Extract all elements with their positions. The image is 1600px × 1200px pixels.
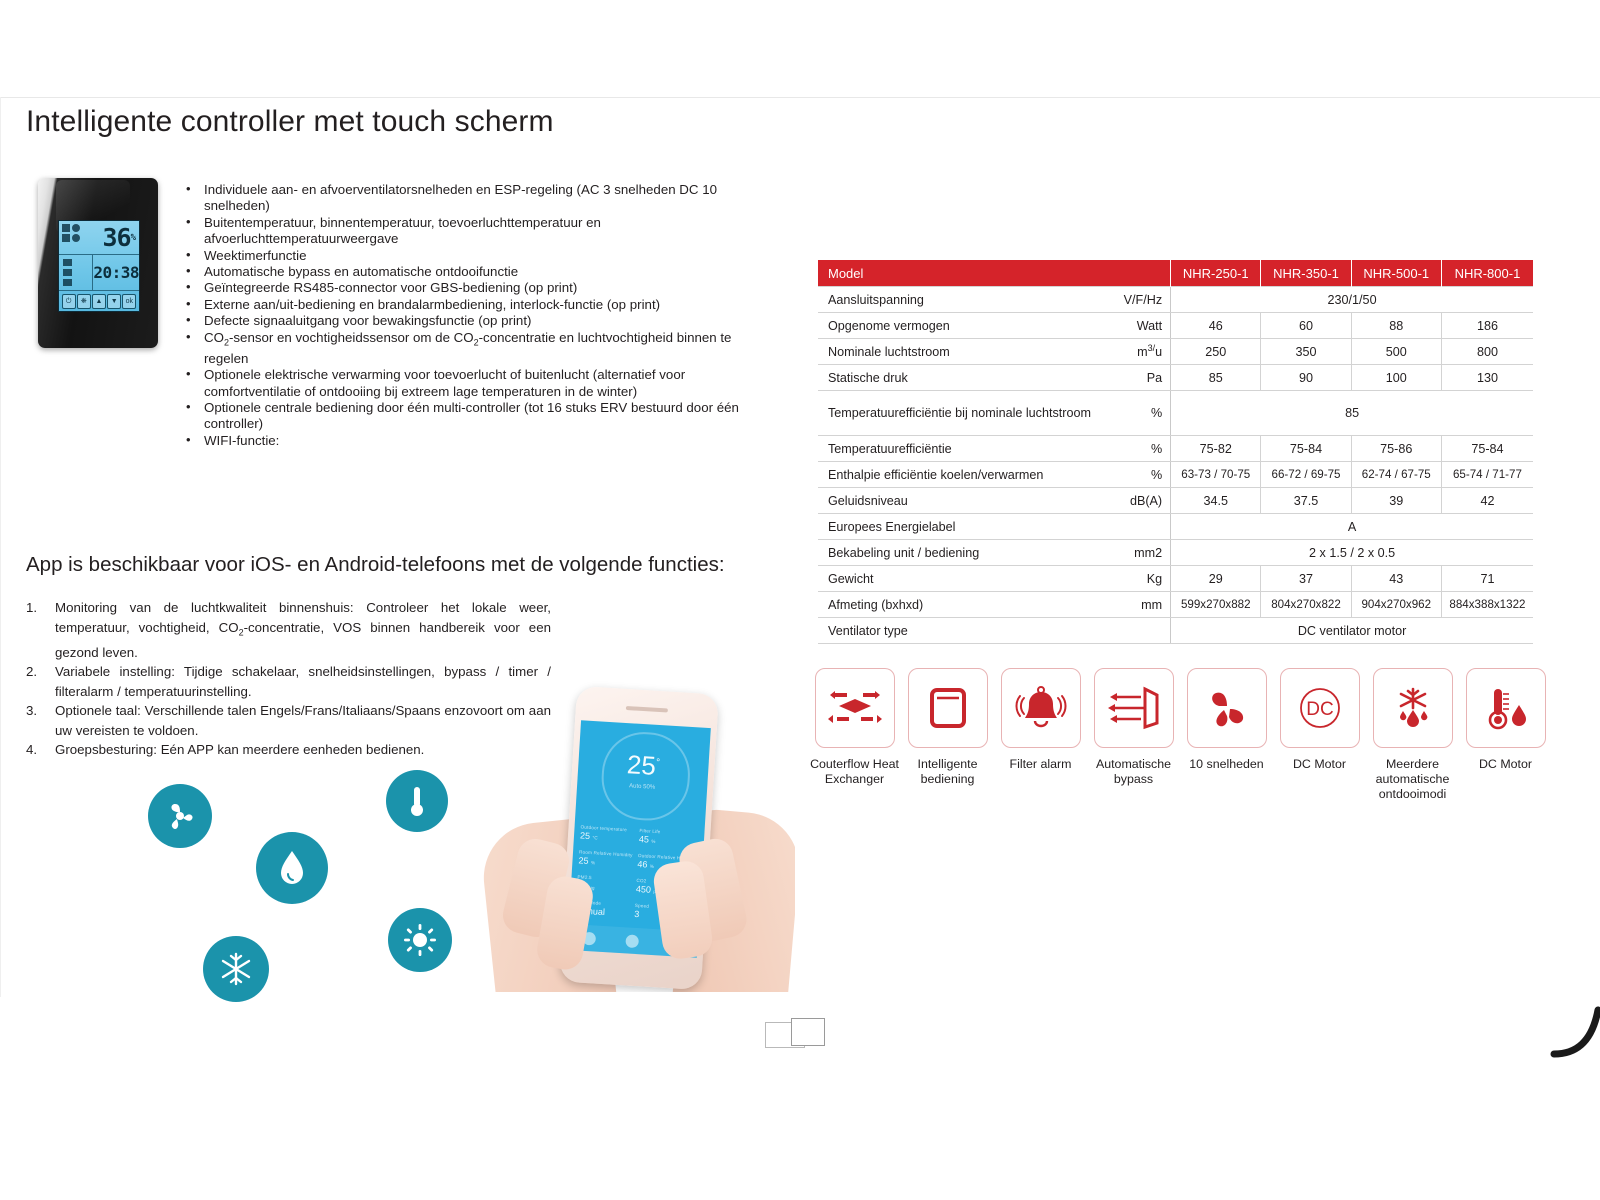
spec-cell: 100 (1351, 365, 1441, 391)
sun-icon (402, 922, 438, 958)
lcd-clock: 20:38 (93, 255, 139, 290)
spec-row-unit: dB(A) (1092, 488, 1170, 514)
spec-row-label: Nominale luchtstroom (818, 339, 1092, 365)
spec-row-label: Europees Energielabel (818, 514, 1092, 540)
phone-earpiece (626, 706, 668, 713)
icon-box (1001, 668, 1081, 748)
spec-row-span-value: A (1171, 514, 1533, 540)
spec-row-unit (1092, 618, 1170, 644)
spec-cell: 60 (1261, 313, 1351, 339)
header-divider (0, 97, 1600, 98)
icon-box: DC (1280, 668, 1360, 748)
icon-box (1373, 668, 1453, 748)
spec-row: GeluidsniveaudB(A)34.537.53942 (818, 488, 1533, 514)
spec-cell: 75-82 (1171, 436, 1261, 462)
fan-key[interactable]: ❋ (77, 294, 91, 309)
spec-cell: 800 (1441, 339, 1533, 365)
feature-list-item: CO2-sensor en vochtigheidssensor om de C… (180, 330, 760, 367)
spec-cell: 500 (1351, 339, 1441, 365)
spec-row-label: Opgenome vermogen (818, 313, 1092, 339)
spec-cell: 75-84 (1441, 436, 1533, 462)
up-key[interactable]: ▲ (92, 294, 106, 309)
spec-row: Temperatuurefficiëntie bij nominale luch… (818, 391, 1533, 436)
spec-row-unit: % (1092, 436, 1170, 462)
spec-row-unit: mm (1092, 592, 1170, 618)
thermometer-icon-circle (386, 770, 448, 832)
snowflake-drop-icon (1388, 684, 1438, 732)
lcd-value-text: 36 (102, 223, 130, 252)
spec-row-label: Geluidsniveau (818, 488, 1092, 514)
feature-caption: Automatische bypass (1086, 757, 1182, 787)
set-temperature: 25° (578, 746, 710, 785)
spec-row-label: Gewicht (818, 566, 1092, 592)
spec-cell: 66-72 / 69-75 (1261, 462, 1351, 488)
svg-text:DC: DC (1306, 699, 1333, 720)
feature-caption: Meerdere automatische ontdooimodi (1365, 757, 1461, 802)
feature-caption: Intelligente bediening (900, 757, 996, 787)
app-function-item: 3.Optionele taal: Verschillende talen En… (26, 701, 551, 740)
lcd-mode-icons (59, 255, 93, 290)
spec-row: Nominale luchtstroomm3/u250350500800 (818, 339, 1533, 365)
feature-caption: Filter alarm (993, 757, 1089, 772)
list-number: 1. (26, 598, 48, 618)
app-function-item: 2.Variabele instelling: Tijdige schakela… (26, 662, 551, 701)
spec-cell: 85 (1171, 365, 1261, 391)
list-number: 2. (26, 662, 48, 682)
spec-row-span-value: DC ventilator motor (1171, 618, 1533, 644)
lcd-humidity-value: 36% (90, 221, 139, 254)
spec-row-unit (1092, 514, 1170, 540)
spec-row-label: Bekabeling unit / bediening (818, 540, 1092, 566)
spec-row-label: Enthalpie efficiëntie koelen/verwarmen (818, 462, 1092, 488)
spec-cell: 71 (1441, 566, 1533, 592)
thumbnail-right-page (791, 1018, 825, 1046)
spec-cell: 250 (1171, 339, 1261, 365)
feature-10-speeds: 10 snelheden (1180, 668, 1273, 802)
left-edge-rule (0, 97, 1, 997)
feature-caption: DC Motor (1458, 757, 1554, 772)
list-number: 3. (26, 701, 48, 721)
feature-list-item: Defecte signaaluitgang voor bewakingsfun… (180, 313, 760, 329)
feature-list-item: Buitentemperatuur, binnentemperatuur, to… (180, 215, 760, 248)
feature-list-item: Individuele aan- en afvoerventilatorsnel… (180, 182, 760, 215)
app-function-list: 1.Monitoring van de luchtkwaliteit binne… (26, 598, 551, 760)
thermometer-drop-icon (1481, 683, 1531, 733)
controller-feature-list: Individuele aan- en afvoerventilatorsnel… (180, 182, 760, 449)
spec-cell: 62-74 / 67-75 (1351, 462, 1441, 488)
icon-box (1187, 668, 1267, 748)
spec-cell: 186 (1441, 313, 1533, 339)
feature-caption: 10 snelheden (1179, 757, 1275, 772)
set-temperature-unit: ° (656, 757, 661, 768)
spec-row-label: Temperatuurefficiëntie bij nominale luch… (818, 391, 1092, 436)
spec-cell: 75-86 (1351, 436, 1441, 462)
icon-box (908, 668, 988, 748)
feature-list-item: Externe aan/uit-bediening en brandalarmb… (180, 297, 760, 313)
feature-automatic-bypass: Automatische bypass (1087, 668, 1180, 802)
spec-table-head: ModelNHR-250-1NHR-350-1NHR-500-1NHR-800-… (818, 260, 1533, 287)
spec-header-col-3: NHR-800-1 (1441, 260, 1533, 287)
spec-header-row: ModelNHR-250-1NHR-350-1NHR-500-1NHR-800-… (818, 260, 1533, 287)
list-number: 4. (26, 740, 48, 760)
lcd-status-icons (59, 221, 90, 254)
app-function-item: 1.Monitoring van de luchtkwaliteit binne… (26, 598, 551, 662)
spec-row-label: Temperatuurefficiëntie (818, 436, 1092, 462)
feature-icon-row: Couterflow Heat Exchanger Intelligente b… (808, 668, 1548, 802)
feature-list-item: Optionele centrale bediening door één mu… (180, 400, 760, 433)
feature-list-item: Optionele elektrische verwarming voor to… (180, 367, 760, 400)
feature-list-item: WIFI-functie: (180, 433, 760, 449)
feature-list-item: Automatische bypass en automatische ontd… (180, 264, 760, 280)
fan-icon (163, 799, 197, 833)
spec-cell: 350 (1261, 339, 1351, 365)
feature-filter-alarm: Filter alarm (994, 668, 1087, 802)
controller-panel-icon (927, 685, 969, 731)
controller-lcd-screen: 36% 20:38 ⏻ ❋ ▲ ▼ ok (58, 220, 140, 312)
spec-cell: 88 (1351, 313, 1441, 339)
spec-header-col-0: NHR-250-1 (1171, 260, 1261, 287)
spec-row-span-value: 2 x 1.5 / 2 x 0.5 (1171, 540, 1533, 566)
spec-cell: 75-84 (1261, 436, 1351, 462)
spec-table-body: AansluitspanningV/F/Hz230/1/50Opgenome v… (818, 287, 1533, 644)
spec-cell: 39 (1351, 488, 1441, 514)
feature-caption: DC Motor (1272, 757, 1368, 772)
spec-cell: 884x388x1322 (1441, 592, 1533, 618)
spec-cell: 37.5 (1261, 488, 1351, 514)
sun-icon-circle (388, 908, 452, 972)
feature-counterflow-heat-exchanger: Couterflow Heat Exchanger (808, 668, 901, 802)
spec-row-label: Statische druk (818, 365, 1092, 391)
feature-dc-motor-2: DC Motor (1459, 668, 1552, 802)
spec-cell: 65-74 / 71-77 (1441, 462, 1533, 488)
spec-cell: 34.5 (1171, 488, 1261, 514)
spec-cell: 63-73 / 70-75 (1171, 462, 1261, 488)
app-function-item: 4.Groepsbesturing: Eén APP kan meerdere … (26, 740, 551, 760)
icon-box (815, 668, 895, 748)
page-root: Intelligente controller met touch scherm… (0, 0, 1600, 1200)
phone-in-hands-photo: 25° Auto 50% Outdoor temperature25 °CFil… (480, 672, 795, 992)
feature-dc-motor-1: DC DC Motor (1273, 668, 1366, 802)
fan-blades-icon (1204, 685, 1250, 731)
spec-row-span-value: 85 (1171, 391, 1533, 436)
spec-row-unit: m3/u (1092, 339, 1170, 365)
spec-row: Statische drukPa8590100130 (818, 365, 1533, 391)
water-drop-icon-circle (256, 832, 328, 904)
lcd-touch-keys[interactable]: ⏻ ❋ ▲ ▼ ok (59, 291, 139, 311)
spec-row: AansluitspanningV/F/Hz230/1/50 (818, 287, 1533, 313)
spec-row-unit: V/F/Hz (1092, 287, 1170, 313)
feature-caption: Couterflow Heat Exchanger (807, 757, 903, 787)
spec-row: Europees EnergielabelA (818, 514, 1533, 540)
spec-row-unit: Watt (1092, 313, 1170, 339)
spec-row-label: Aansluitspanning (818, 287, 1092, 313)
spec-row: Enthalpie efficiëntie koelen/verwarmen%6… (818, 462, 1533, 488)
snowflake-icon-circle (203, 936, 269, 1002)
fan-icon-circle (148, 784, 212, 848)
sensor-cell: Outdoor temperature25 °C (580, 824, 640, 844)
spec-row-label: Ventilator type (818, 618, 1092, 644)
dc-circle-icon: DC (1293, 681, 1347, 735)
spec-row: Temperatuurefficiëntie%75-8275-8475-8675… (818, 436, 1533, 462)
decorative-arc (1480, 1002, 1600, 1112)
spec-row-label: Afmeting (bxhxd) (818, 592, 1092, 618)
spec-row: Ventilator typeDC ventilator motor (818, 618, 1533, 644)
down-key[interactable]: ▼ (107, 294, 121, 309)
spec-cell: 29 (1171, 566, 1261, 592)
spec-row: Afmeting (bxhxd)mm599x270x882804x270x822… (818, 592, 1533, 618)
feature-intelligent-control: Intelligente bediening (901, 668, 994, 802)
spec-cell: 90 (1261, 365, 1351, 391)
spec-header-col-1: NHR-350-1 (1261, 260, 1351, 287)
spec-header-model: Model (818, 260, 1171, 287)
spec-row: Opgenome vermogenWatt466088186 (818, 313, 1533, 339)
spec-row-unit: mm2 (1092, 540, 1170, 566)
specification-table: ModelNHR-250-1NHR-350-1NHR-500-1NHR-800-… (818, 260, 1533, 644)
lcd-unit: % (131, 233, 135, 243)
spec-cell: 42 (1441, 488, 1533, 514)
feature-list-item: Weektimerfunctie (180, 248, 760, 264)
feature-defrost-modes: Meerdere automatische ontdooimodi (1366, 668, 1459, 802)
spec-row-unit: Kg (1092, 566, 1170, 592)
set-temperature-value: 25 (626, 749, 657, 781)
power-key[interactable]: ⏻ (62, 294, 76, 309)
spec-cell: 904x270x962 (1351, 592, 1441, 618)
spec-header-col-2: NHR-500-1 (1351, 260, 1441, 287)
spec-row-unit: Pa (1092, 365, 1170, 391)
spec-row-unit: % (1092, 462, 1170, 488)
feature-list-item: Geïntegreerde RS485-connector voor GBS-b… (180, 280, 760, 296)
spec-cell: 46 (1171, 313, 1261, 339)
sensor-cell: Room Relative Humidity25 % (578, 849, 638, 869)
page-title: Intelligente controller met touch scherm (26, 105, 554, 139)
spec-row: Bekabeling unit / bedieningmm22 x 1.5 / … (818, 540, 1533, 566)
thermometer-icon (402, 783, 432, 819)
app-section-title: App is beschikbaar voor iOS- en Android-… (26, 553, 725, 577)
bell-icon (1014, 684, 1068, 732)
spec-row-unit: % (1092, 391, 1170, 436)
spec-row: GewichtKg29374371 (818, 566, 1533, 592)
snowflake-icon (218, 951, 254, 987)
spec-cell: 43 (1351, 566, 1441, 592)
ok-key[interactable]: ok (122, 294, 136, 309)
spec-cell: 37 (1261, 566, 1351, 592)
water-drop-icon (275, 848, 309, 888)
touch-controller-photo: 36% 20:38 ⏻ ❋ ▲ ▼ ok (38, 178, 158, 348)
tab-settings-icon[interactable] (626, 934, 640, 948)
spec-cell: 130 (1441, 365, 1533, 391)
counterflow-heat-exchanger-icon (827, 685, 883, 731)
spec-cell: 599x270x882 (1171, 592, 1261, 618)
bypass-airflow-icon (1107, 685, 1161, 731)
icon-box (1094, 668, 1174, 748)
spec-row-span-value: 230/1/50 (1171, 287, 1533, 313)
icon-box (1466, 668, 1546, 748)
page-thumbnail-indicator (765, 1018, 823, 1048)
spec-cell: 804x270x822 (1261, 592, 1351, 618)
